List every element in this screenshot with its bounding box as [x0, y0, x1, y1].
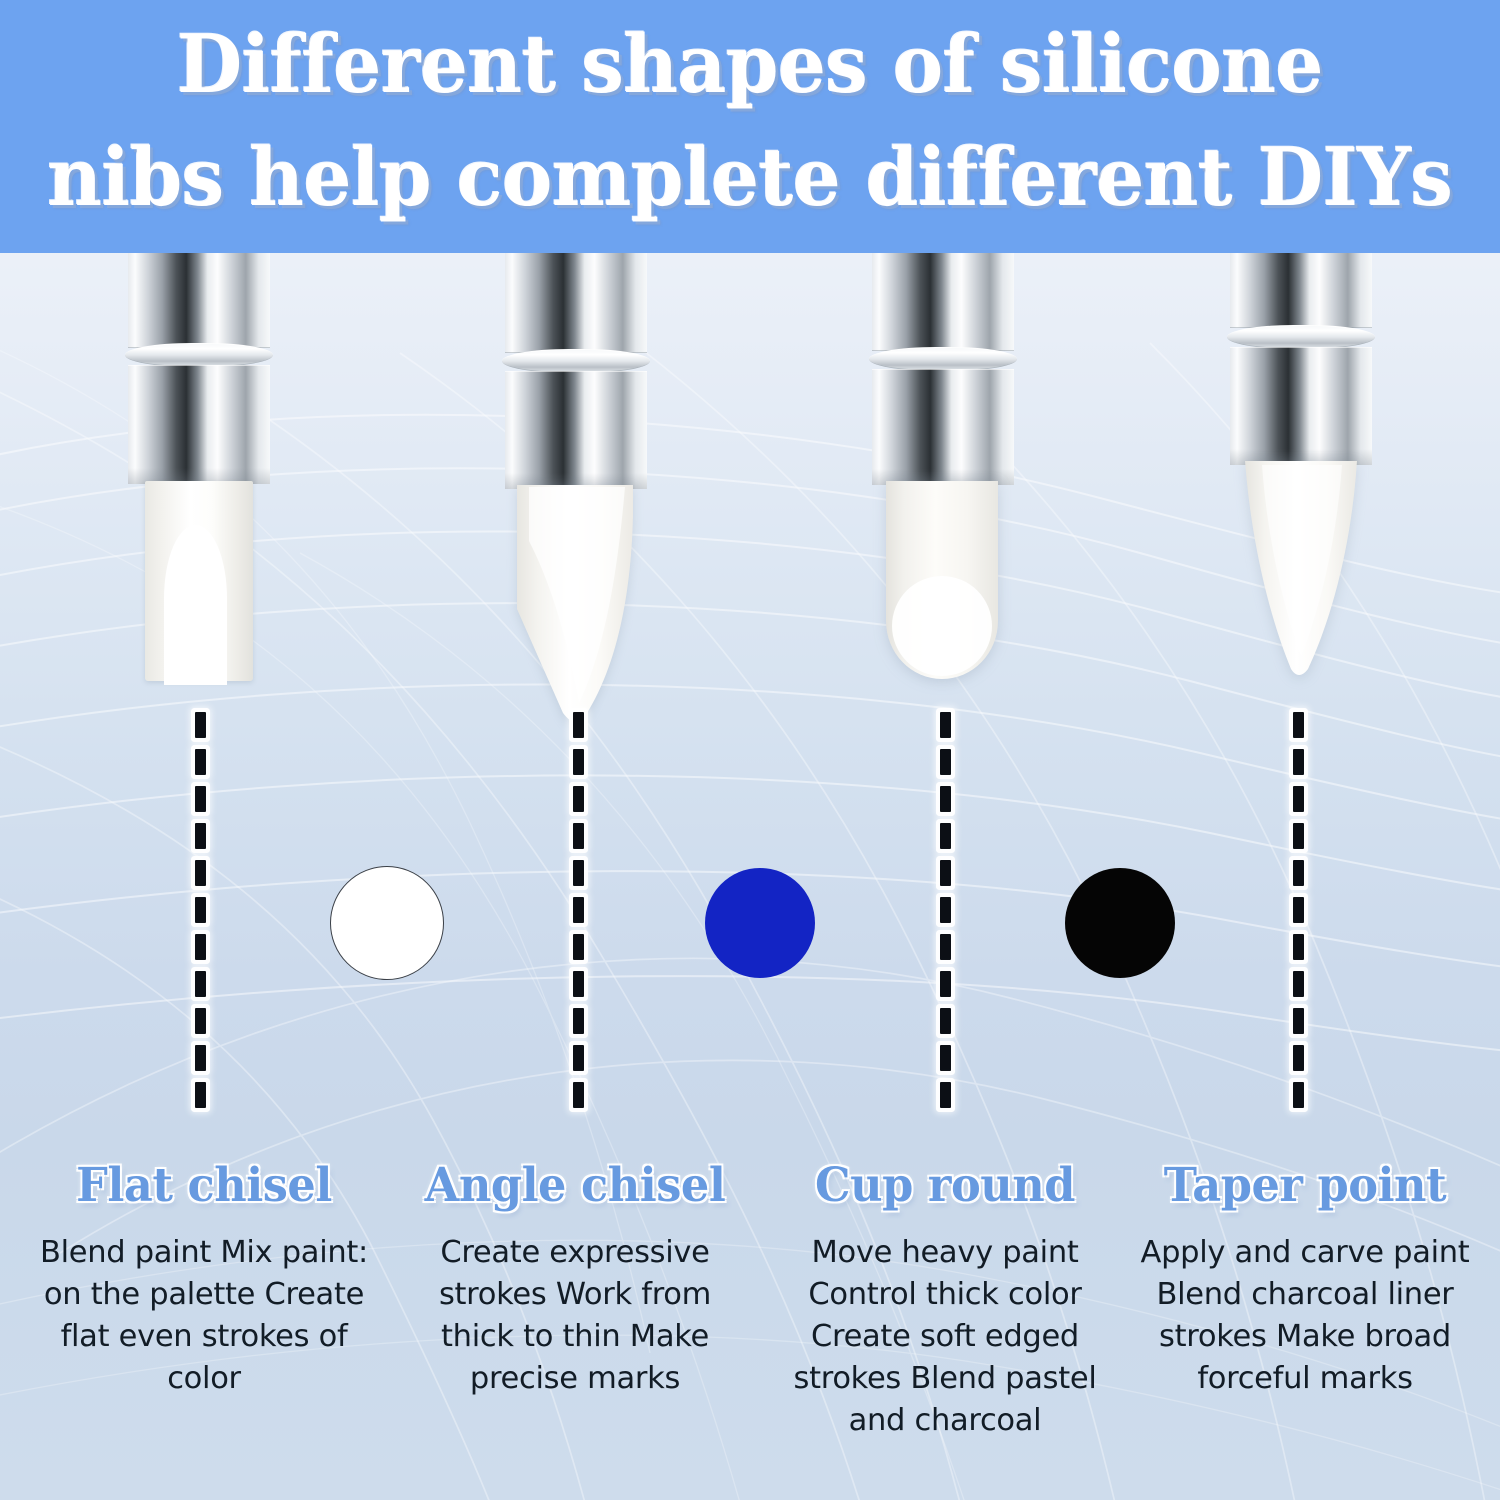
pen-barrel-lower [128, 365, 270, 484]
pen-barrel-upper [128, 253, 270, 348]
pen-taper-point [1230, 253, 1372, 683]
column-description: Create expressive strokes Work from thic… [405, 1232, 745, 1400]
column-title: Taper point [1144, 1158, 1467, 1214]
angle-chisel-nib-icon [513, 485, 637, 725]
pen-barrel-upper [1230, 253, 1372, 328]
pen-ring [869, 347, 1017, 371]
column-description: Move heavy paint Control thick color Cre… [775, 1232, 1115, 1442]
guide-line-taper-point [1293, 712, 1304, 1112]
pen-ring [502, 349, 650, 373]
banner-title: Different shapes of silicone nibs help c… [45, 8, 1455, 234]
header-banner: Different shapes of silicone nibs help c… [0, 0, 1500, 253]
black-paint-dot [1065, 868, 1175, 978]
taper-point-nib-icon [1242, 461, 1360, 681]
column-title: Flat chisel [43, 1158, 366, 1214]
column-description: Apply and carve paint Blend charcoal lin… [1135, 1232, 1475, 1400]
flat-chisel-nib-icon [145, 481, 253, 681]
column-title: Angle chisel [414, 1158, 737, 1214]
pen-ring [1227, 325, 1375, 349]
pen-flat-chisel [128, 253, 270, 703]
pen-barrel-lower [872, 369, 1014, 485]
pen-barrel-lower [1230, 347, 1372, 465]
guide-line-cup-round [940, 712, 951, 1112]
pen-barrel-upper [505, 253, 647, 353]
pen-angle-chisel [505, 253, 647, 723]
guide-line-flat-chisel [195, 712, 206, 1112]
pen-ring [125, 343, 273, 367]
column-description: Blend paint Mix paint: on the palette Cr… [34, 1232, 374, 1400]
guide-line-angle-chisel [573, 712, 584, 1112]
column-taper-point: Taper point Apply and carve paint Blend … [1135, 1158, 1475, 1400]
cup-round-nib-icon [884, 481, 1000, 681]
pen-cup-round [872, 253, 1014, 683]
column-cup-round: Cup round Move heavy paint Control thick… [775, 1158, 1115, 1442]
column-flat-chisel: Flat chisel Blend paint Mix paint: on th… [34, 1158, 374, 1400]
white-paint-dot [330, 866, 444, 980]
pen-barrel-lower [505, 371, 647, 489]
blue-paint-dot [705, 868, 815, 978]
column-angle-chisel: Angle chisel Create expressive strokes W… [405, 1158, 745, 1400]
product-infographic: Different shapes of silicone nibs help c… [0, 0, 1500, 1500]
pen-barrel-upper [872, 253, 1014, 351]
column-title: Cup round [784, 1158, 1107, 1214]
